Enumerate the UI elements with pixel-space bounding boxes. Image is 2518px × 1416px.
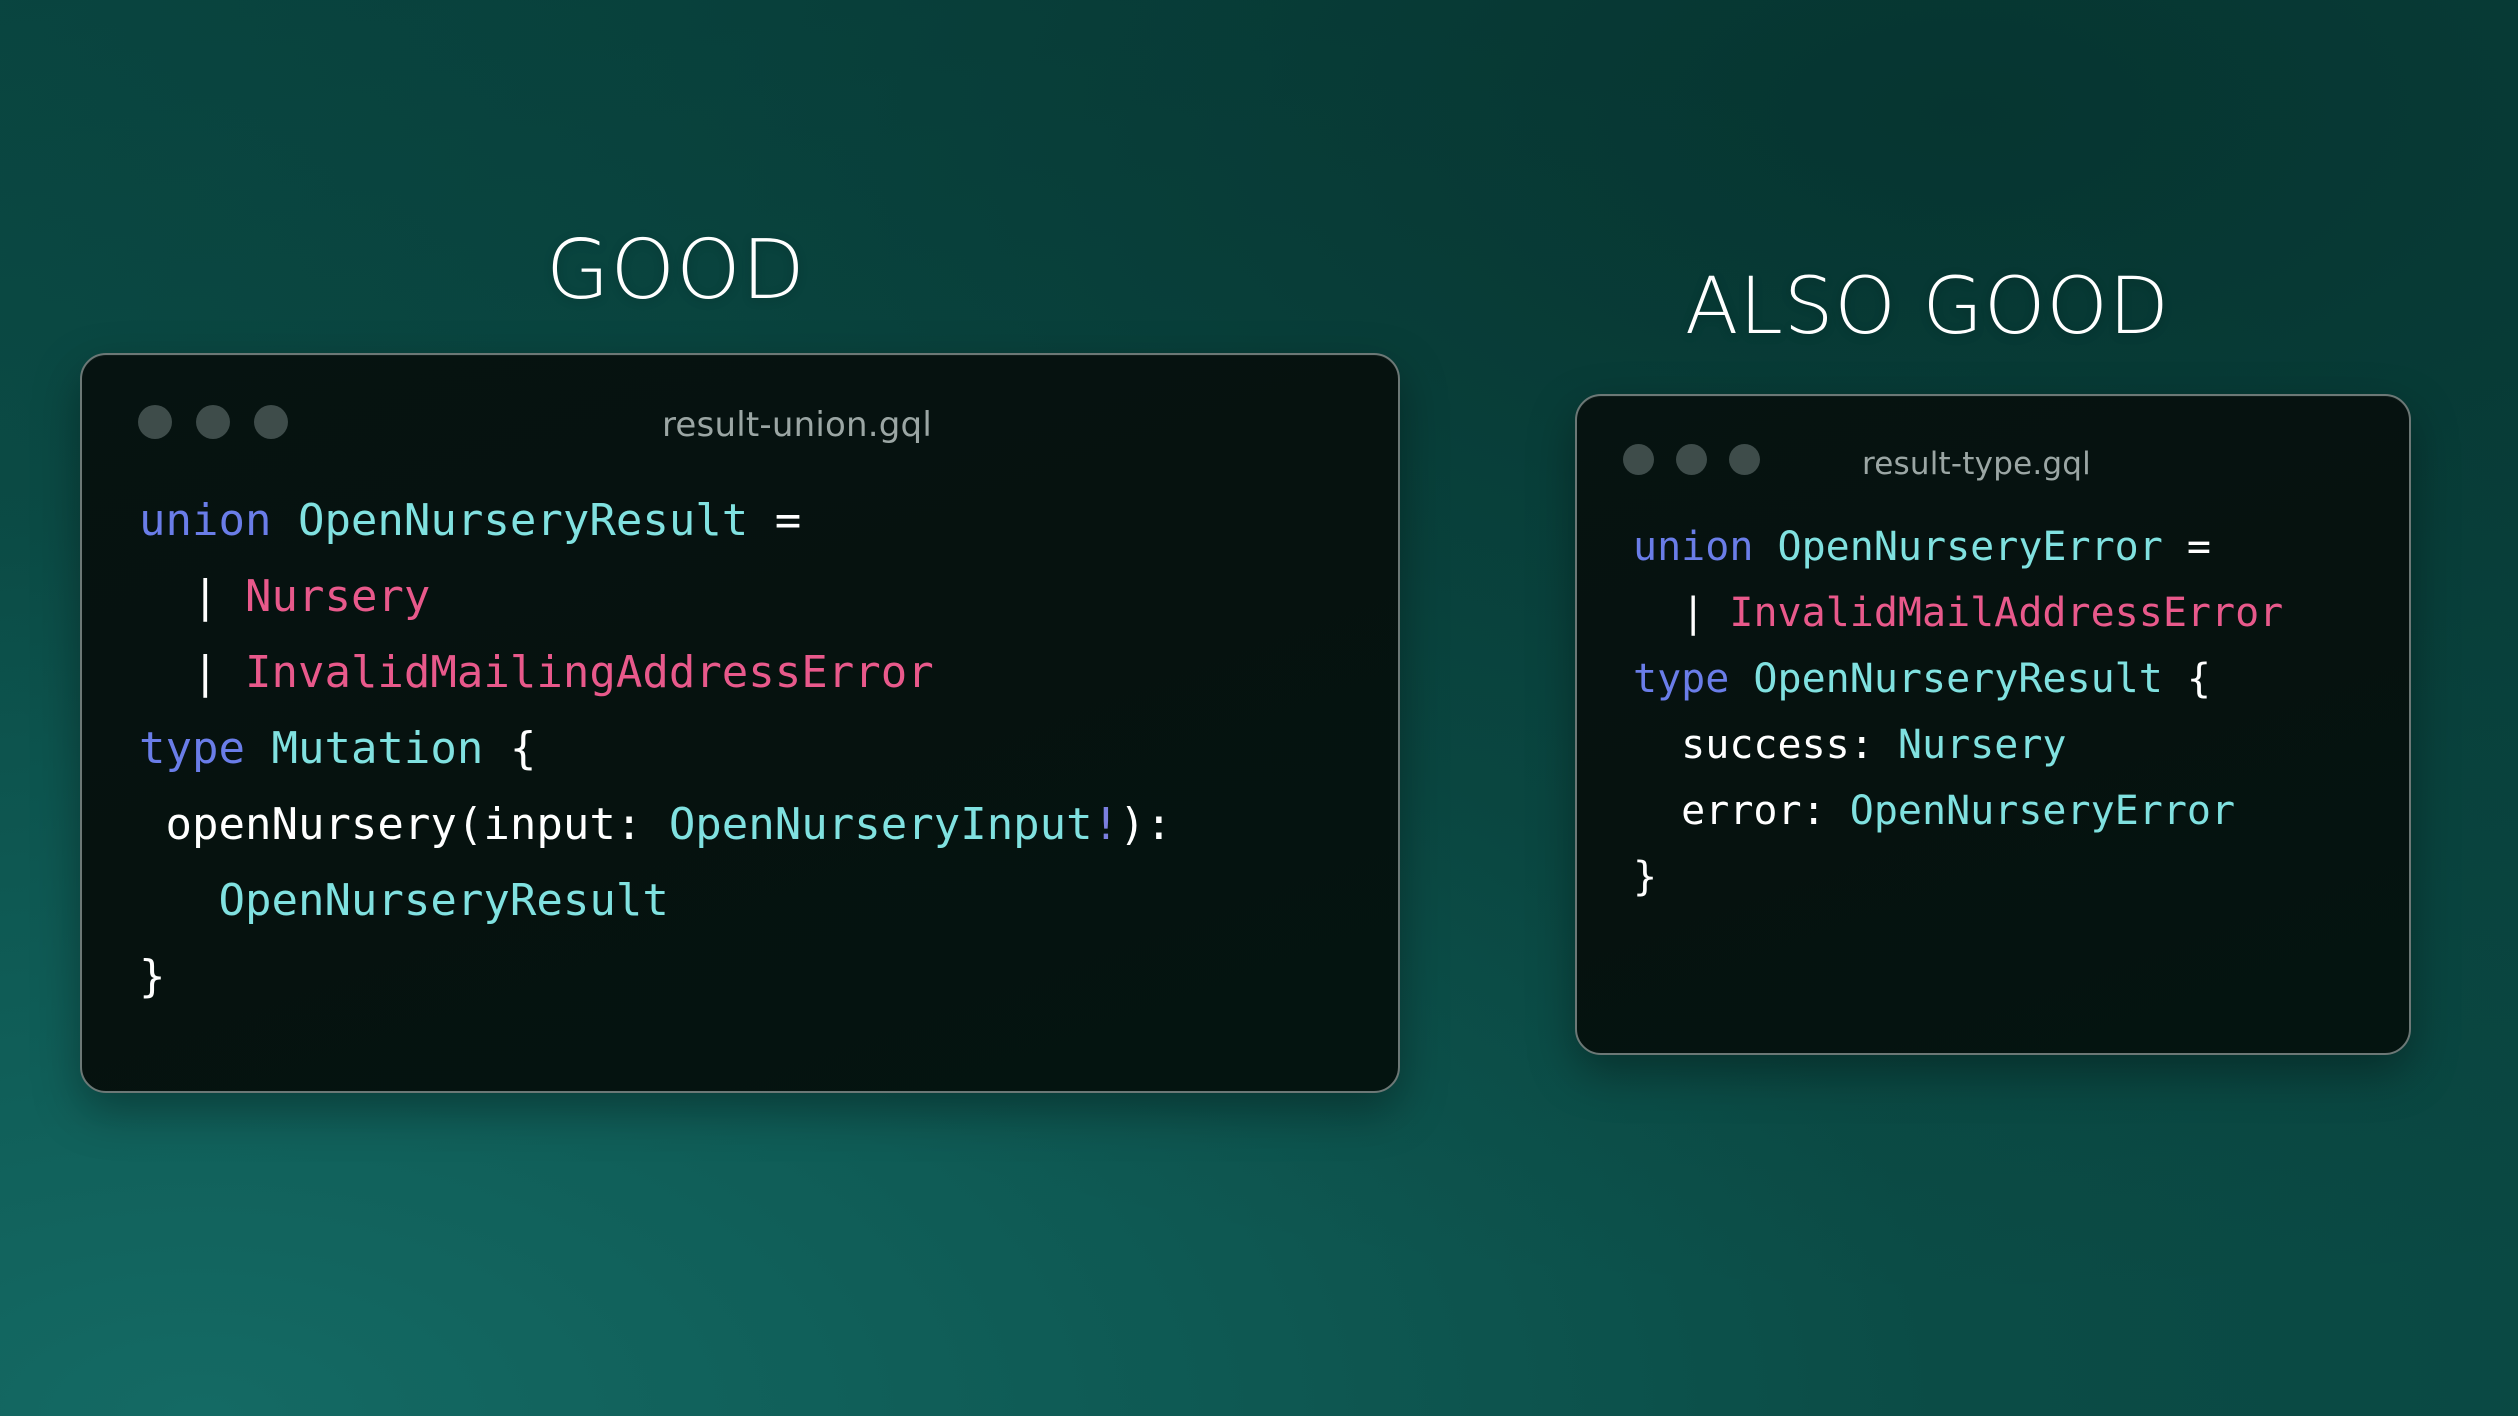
code-token: OpenNurseryInput: [669, 799, 1093, 850]
code-line: type Mutation {: [139, 711, 1398, 787]
code-token: OpenNurseryResult: [218, 875, 668, 926]
heading-also-good: ALSO GOOD: [1685, 268, 2170, 346]
code-token: success:: [1633, 722, 1898, 768]
code-token: [1633, 590, 1681, 636]
code-token: Nursery: [245, 571, 430, 622]
code-token: [139, 875, 218, 926]
code-token: OpenNurseryResult: [1753, 656, 2162, 702]
code-window-left: result-union.gql union OpenNurseryResult…: [80, 353, 1400, 1093]
code-token: [271, 495, 298, 546]
code-token: union: [1633, 524, 1753, 570]
code-token: InvalidMailAddressError: [1729, 590, 2283, 636]
code-token: type: [1633, 656, 1729, 702]
code-line: success: Nursery: [1633, 712, 2409, 778]
code-line: OpenNurseryResult: [139, 863, 1398, 939]
code-token: |: [192, 571, 219, 622]
window-control-dots: [138, 405, 288, 439]
code-token: {: [2163, 656, 2211, 702]
heading-good: GOOD: [546, 230, 806, 312]
code-token: !: [1093, 799, 1120, 850]
code-line: union OpenNurseryResult =: [139, 483, 1398, 559]
code-token: [218, 647, 245, 698]
code-token: ):: [1119, 799, 1172, 850]
code-token: =: [2163, 524, 2235, 570]
minimize-dot-icon[interactable]: [196, 405, 230, 439]
code-token: type: [139, 723, 245, 774]
minimize-dot-icon[interactable]: [1676, 444, 1707, 475]
code-token: Mutation: [271, 723, 483, 774]
window-filename: result-type.gql: [1862, 446, 2091, 482]
code-token: |: [192, 647, 219, 698]
code-token: {: [483, 723, 536, 774]
code-line: }: [1633, 844, 2409, 910]
window-filename: result-union.gql: [662, 405, 932, 445]
code-token: [139, 571, 192, 622]
code-line: error: OpenNurseryError: [1633, 778, 2409, 844]
code-token: }: [1633, 854, 1657, 900]
code-token: error:: [1633, 788, 1850, 834]
code-line: openNursery(input: OpenNurseryInput!):: [139, 787, 1398, 863]
window-titlebar: result-union.gql: [82, 355, 1398, 459]
window-titlebar: result-type.gql: [1577, 396, 2409, 496]
code-token: [1729, 656, 1753, 702]
code-window-right: result-type.gql union OpenNurseryError =…: [1575, 394, 2411, 1055]
code-line: union OpenNurseryError =: [1633, 514, 2409, 580]
code-token: [1753, 524, 1777, 570]
code-line: type OpenNurseryResult {: [1633, 646, 2409, 712]
code-token: [245, 723, 272, 774]
code-token: |: [1681, 590, 1705, 636]
code-line: }: [139, 939, 1398, 1015]
close-dot-icon[interactable]: [1623, 444, 1654, 475]
code-token: Nursery: [1898, 722, 2067, 768]
maximize-dot-icon[interactable]: [254, 405, 288, 439]
code-token: [218, 571, 245, 622]
close-dot-icon[interactable]: [138, 405, 172, 439]
code-token: openNursery(input:: [139, 799, 669, 850]
code-line: | InvalidMailingAddressError: [139, 635, 1398, 711]
code-token: OpenNurseryError: [1850, 788, 2235, 834]
code-token: OpenNurseryError: [1778, 524, 2163, 570]
code-token: =: [748, 495, 827, 546]
code-token: [139, 647, 192, 698]
code-block: union OpenNurseryResult = | Nursery | In…: [82, 459, 1398, 1015]
code-token: [1705, 590, 1729, 636]
window-control-dots: [1623, 444, 1760, 475]
maximize-dot-icon[interactable]: [1729, 444, 1760, 475]
code-line: | Nursery: [139, 559, 1398, 635]
code-block: union OpenNurseryError = | InvalidMailAd…: [1577, 496, 2409, 910]
code-token: InvalidMailingAddressError: [245, 647, 934, 698]
code-token: }: [139, 951, 166, 1002]
code-token: OpenNurseryResult: [298, 495, 748, 546]
code-line: | InvalidMailAddressError: [1633, 580, 2409, 646]
code-token: union: [139, 495, 271, 546]
